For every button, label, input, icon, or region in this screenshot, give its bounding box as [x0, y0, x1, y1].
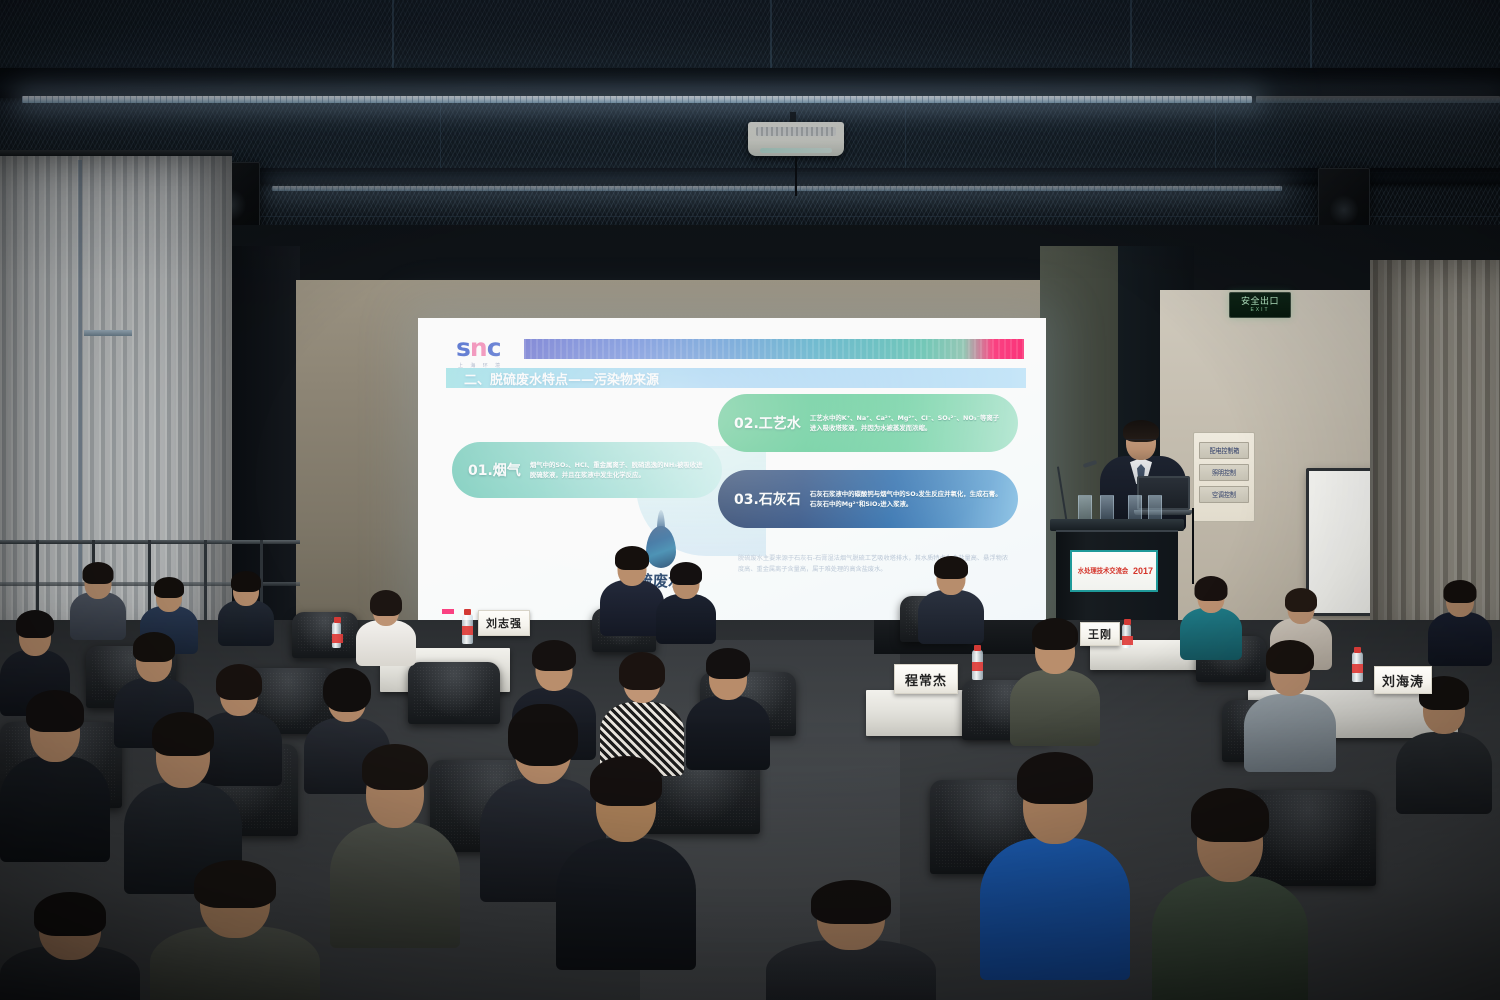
- person-torso: [918, 590, 984, 644]
- railing-post: [204, 540, 207, 630]
- window-handle[interactable]: [84, 330, 132, 336]
- slide-block-02-text: 工艺水中的K⁺、Na⁺、Ca²⁺、Mg²⁺、Cl⁻、SO₄²⁻、NO₃⁻等离子进…: [810, 413, 1004, 433]
- audience-member: [766, 880, 936, 1000]
- water-bottle[interactable]: [462, 614, 473, 644]
- person-torso: [1396, 732, 1492, 814]
- slide-block-02-number: 02.工艺水: [734, 413, 801, 433]
- audience-member: [600, 546, 664, 634]
- person-hair: [1032, 618, 1078, 650]
- person-hair: [152, 712, 214, 756]
- audience-member: [556, 756, 696, 966]
- name-placard-mid-right-label: 王刚: [1088, 626, 1112, 642]
- control-panel-row[interactable]: 配电控制箱: [1199, 442, 1249, 459]
- person-hair: [34, 892, 106, 936]
- person-hair: [706, 648, 750, 679]
- person-hair: [811, 880, 891, 924]
- light-diffuser-texture: [22, 96, 1252, 103]
- person-hair: [670, 562, 702, 585]
- ceiling-beam: [0, 68, 1500, 98]
- person-hair: [154, 577, 184, 598]
- person-hair: [1285, 588, 1317, 612]
- audience-member: [70, 562, 126, 638]
- person-torso: [218, 600, 274, 646]
- slide-block-01: 01.烟气 烟气中的SO₂、HCl、重金属离子、脱硝逃逸的NH₃被吸收进脱硫浆液…: [452, 442, 722, 498]
- wall-control-panel[interactable]: 配电控制箱 照明控制 空调控制: [1193, 432, 1255, 522]
- water-bottle[interactable]: [1122, 624, 1131, 648]
- person-hair: [133, 632, 175, 662]
- person-hair: [362, 744, 428, 790]
- slide-block-03: 03.石灰石 石灰石浆液中的碳酸钙与烟气中的SO₂发生反应并氧化，生成石膏。石灰…: [718, 470, 1018, 528]
- name-placard-mid-right: 王刚: [1080, 622, 1120, 646]
- person-torso: [556, 838, 696, 970]
- person-torso: [1428, 612, 1492, 666]
- control-panel-row[interactable]: 照明控制: [1199, 464, 1249, 481]
- name-placard-left-label: 刘志强: [486, 615, 522, 631]
- audience-member: [1396, 676, 1492, 808]
- logo-letter-s: s: [456, 333, 470, 362]
- person-torso: [1010, 670, 1100, 746]
- slide-logo: snc: [456, 336, 501, 360]
- podium-banner-text: 水处理技术交流会: [1078, 566, 1128, 576]
- ceiling-light-strip: [22, 96, 1252, 103]
- person-hair: [194, 860, 276, 908]
- podium-banner: 水处理技术交流会 2017: [1070, 550, 1158, 592]
- ceiling-grid-line: [1215, 100, 1216, 172]
- person-torso: [1152, 876, 1308, 1000]
- logo-letter-n: n: [470, 333, 487, 362]
- audience-member: [150, 860, 320, 1000]
- audience-member: [600, 652, 684, 772]
- person-hair: [619, 652, 665, 690]
- slide-block-03-text: 石灰石浆液中的碳酸钙与烟气中的SO₂发生反应并氧化，生成石膏。石灰石中的Mg²⁺…: [810, 489, 1004, 509]
- person-hair: [323, 668, 371, 712]
- person-hair: [83, 562, 114, 584]
- person-hair: [1017, 752, 1093, 804]
- person-hair: [1191, 788, 1269, 842]
- person-hair: [532, 640, 576, 671]
- logo-letter-c: c: [487, 333, 501, 362]
- person-hair: [1444, 580, 1477, 603]
- person-hair: [231, 571, 261, 592]
- control-panel-row[interactable]: 空调控制: [1199, 486, 1249, 503]
- audience-member: [330, 744, 460, 944]
- person-torso: [980, 838, 1130, 980]
- exit-sign-label-en: EXIT: [1250, 307, 1269, 314]
- name-placard-left: 刘志强: [478, 610, 530, 636]
- name-placard-center-label: 程常杰: [905, 670, 947, 689]
- person-hair: [1266, 640, 1314, 674]
- person-torso: [1180, 608, 1242, 660]
- audience-member: [218, 570, 274, 644]
- person-hair: [590, 756, 662, 806]
- slide-title-bar: 二、脱硫废水特点——污染物来源: [446, 368, 1026, 388]
- slide-header-gradient-bar: [524, 339, 1024, 359]
- ceiling-light-strip: [272, 186, 1282, 191]
- audience-member: [1180, 576, 1242, 656]
- person-hair: [16, 610, 54, 638]
- slide-block-02: 02.工艺水 工艺水中的K⁺、Na⁺、Ca²⁺、Mg²⁺、Cl⁻、SO₄²⁻、N…: [718, 394, 1018, 452]
- slide-footer-accent: [442, 609, 454, 614]
- person-torso: [600, 580, 664, 636]
- ceiling-grid-line: [905, 100, 906, 172]
- audience-member: [356, 590, 416, 664]
- conference-hall-photo: 安全出口 EXIT 配电控制箱 照明控制 空调控制 snc 上 海 环 境: [0, 0, 1500, 1000]
- audience-member: [656, 562, 716, 642]
- ceiling-grid-line: [440, 100, 441, 172]
- person-torso: [330, 822, 460, 948]
- control-row-label: 照明控制: [1212, 468, 1236, 478]
- podium-cable: [1192, 508, 1194, 584]
- audience-member: [0, 690, 110, 860]
- person-hair: [26, 690, 84, 732]
- water-bottle[interactable]: [972, 650, 983, 680]
- audience-member: [918, 556, 984, 642]
- person-hair: [934, 556, 968, 579]
- person-torso: [0, 756, 110, 862]
- presenter-laptop[interactable]: [1134, 476, 1192, 516]
- exit-sign-label-cn: 安全出口: [1241, 297, 1279, 307]
- curtain-rail: [0, 150, 232, 156]
- water-bottle[interactable]: [332, 622, 341, 648]
- presenter-glasses: [1126, 439, 1156, 444]
- name-placard-right-label: 刘海涛: [1382, 671, 1424, 690]
- audience-member: [1152, 788, 1308, 1000]
- person-hair: [370, 590, 402, 616]
- water-bottle[interactable]: [1352, 652, 1363, 682]
- name-placard-right: 刘海涛: [1374, 666, 1432, 694]
- audience-member: [0, 892, 140, 1000]
- audience-member: [686, 648, 770, 766]
- slide-title: 二、脱硫废水特点——污染物来源: [464, 369, 659, 388]
- person-torso: [1244, 694, 1336, 772]
- control-row-label: 配电控制箱: [1209, 446, 1239, 456]
- person-torso: [656, 594, 716, 644]
- podium-banner-year: 2017: [1133, 566, 1153, 576]
- person-hair: [216, 664, 262, 700]
- ceiling-light-strip: [1256, 96, 1500, 103]
- person-hair: [615, 546, 649, 570]
- slide-block-01-text: 烟气中的SO₂、HCl、重金属离子、脱硝逃逸的NH₃被吸收进脱硫浆液，并且在浆液…: [530, 460, 708, 480]
- person-torso: [686, 696, 770, 770]
- projector-cable: [795, 156, 797, 196]
- person-hair: [1195, 576, 1228, 601]
- slide-block-01-number: 01.烟气: [468, 460, 521, 480]
- slide-block-03-number: 03.石灰石: [734, 489, 801, 509]
- person-torso: [356, 620, 416, 666]
- audience-member: [1244, 640, 1336, 766]
- laptop-keyboard-base[interactable]: [1134, 510, 1192, 515]
- audience-member: [980, 752, 1130, 976]
- laptop-screen: [1137, 476, 1190, 510]
- audience-member: [1428, 580, 1492, 664]
- control-row-label: 空调控制: [1212, 490, 1236, 500]
- audience-chair[interactable]: [292, 612, 358, 658]
- name-placard-center: 程常杰: [894, 664, 958, 694]
- light-diffuser-texture: [272, 186, 1282, 191]
- exit-sign: 安全出口 EXIT: [1229, 292, 1291, 318]
- ceiling-projector: [748, 122, 844, 156]
